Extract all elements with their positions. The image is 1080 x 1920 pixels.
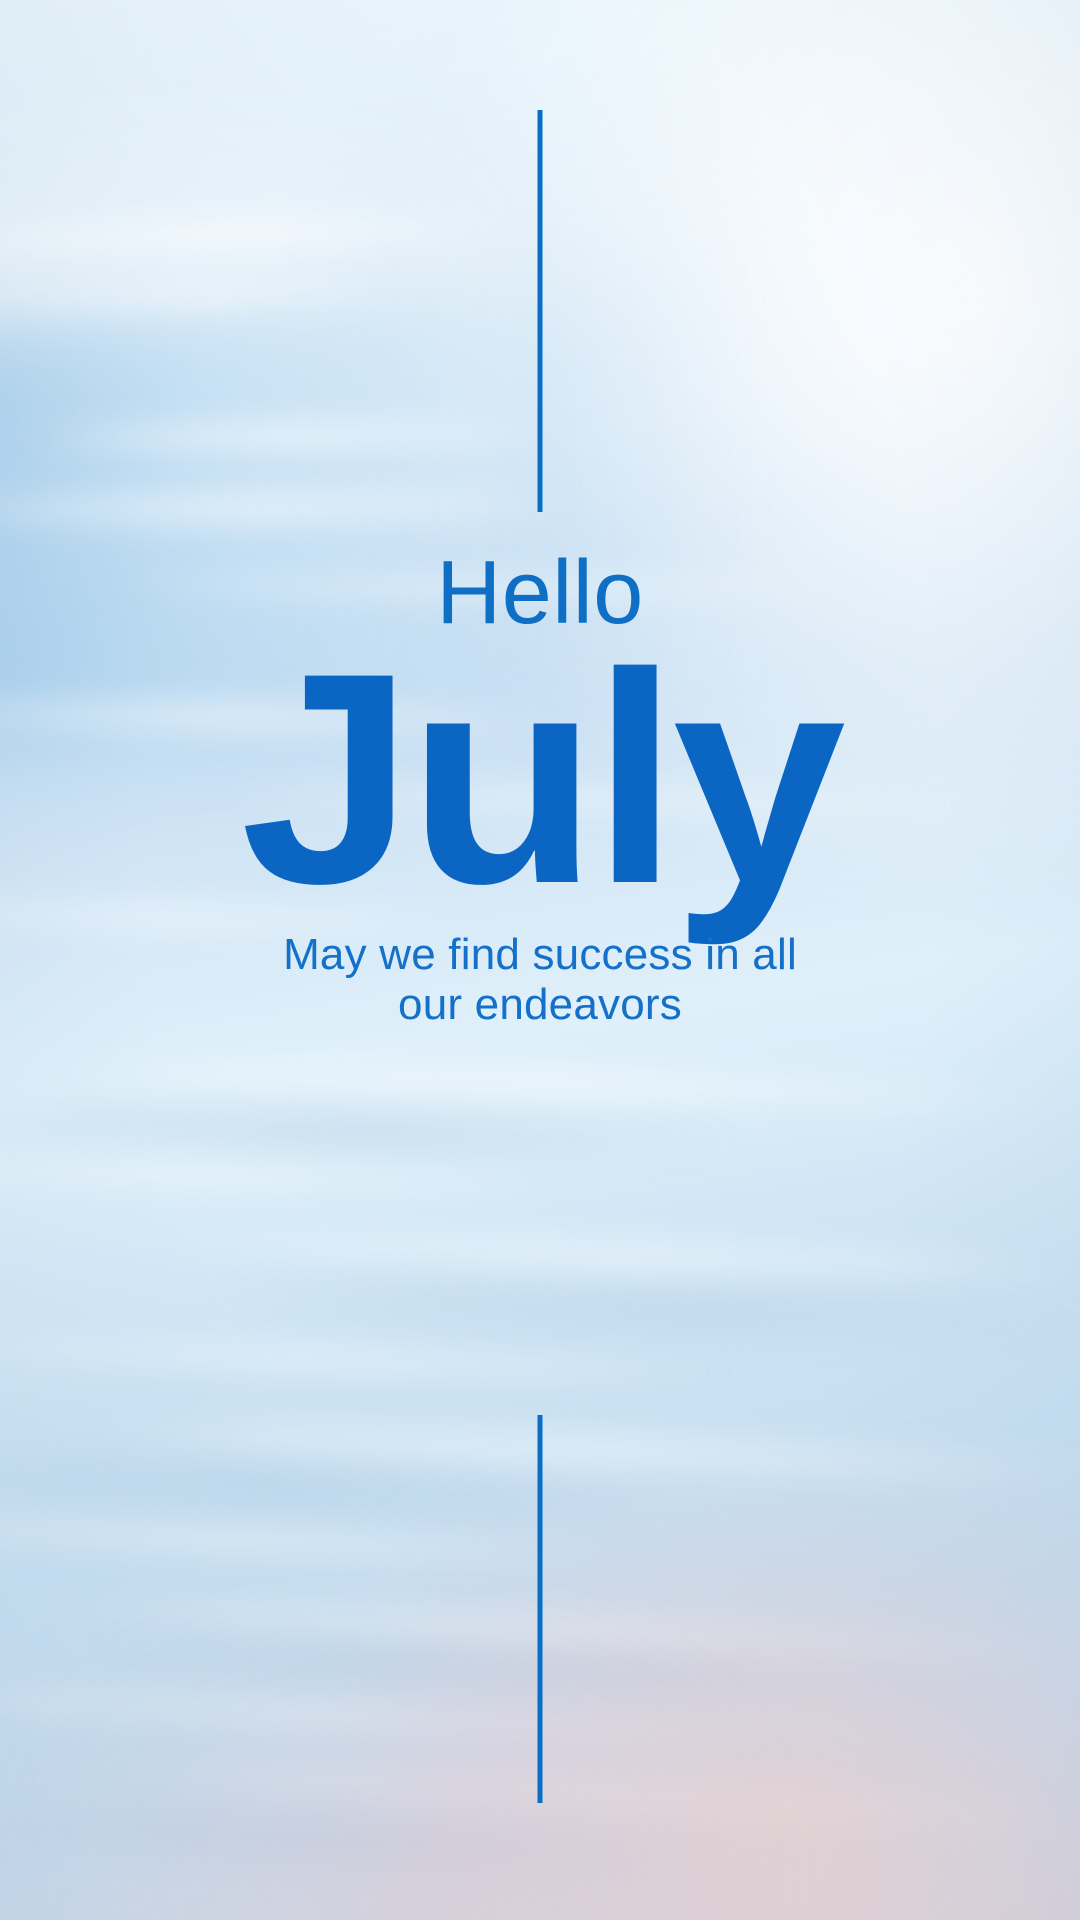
vertical-rule-top bbox=[538, 110, 543, 512]
tagline-line-2: our endeavors bbox=[220, 980, 860, 1030]
tagline-line-1: May we find success in all bbox=[220, 930, 860, 980]
poster-canvas: Hello July May we find success in all ou… bbox=[0, 0, 1080, 1920]
tagline: May we find success in all our endeavors bbox=[220, 930, 860, 1029]
vertical-rule-bottom bbox=[538, 1415, 543, 1803]
month-title: July bbox=[0, 628, 1080, 928]
